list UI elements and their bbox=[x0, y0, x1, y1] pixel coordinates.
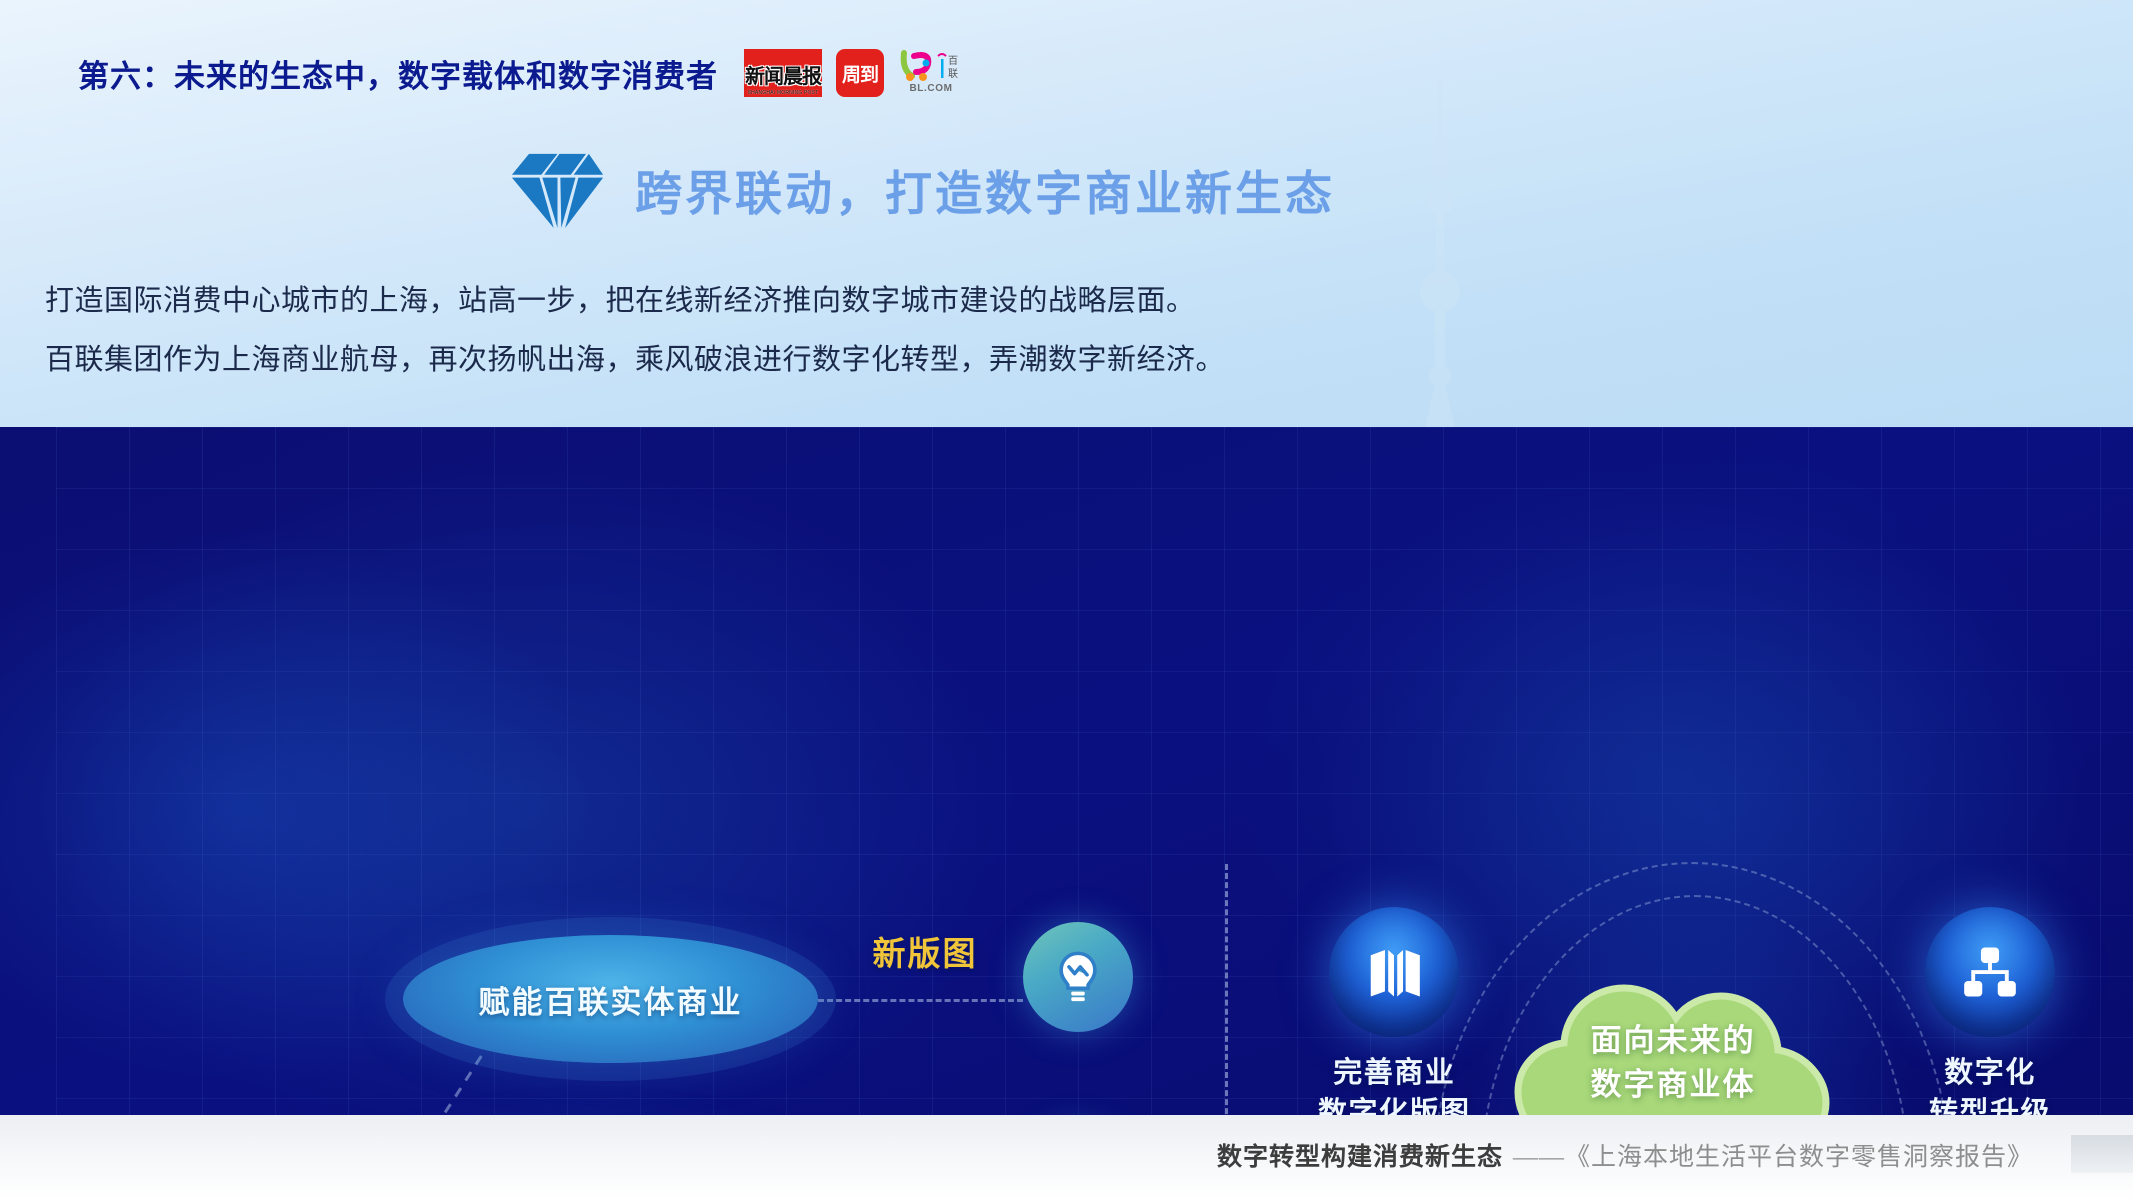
connector-ellipse-1-to-icon bbox=[818, 999, 1023, 1002]
node-digital-transform-bubble bbox=[1925, 907, 2055, 1037]
diagram-section: 百联集团 BAILIAN GROUP 百 联 BL.COM 赋能百联实体商业 布… bbox=[0, 427, 2133, 1115]
node-digital-transform-line-1: 数字化 bbox=[1929, 1053, 2051, 1093]
partner-logos: 新闻晨报 SHANGHAI MORNING POST 周到 百 联 BL.COM bbox=[744, 48, 964, 98]
lightbulb-icon bbox=[1051, 950, 1105, 1004]
ellipse-label-1[interactable]: 赋能百联实体商业 bbox=[403, 935, 818, 1063]
bailian-mark-icon: 百 联 bbox=[898, 48, 964, 82]
cloud-line-2: 数字商业体 bbox=[1591, 1063, 1756, 1107]
footer-source: ——《上海本地生活平台数字零售洞察报告》 bbox=[1513, 1137, 2033, 1173]
center-cloud: 面向未来的 数字商业体 bbox=[1508, 960, 1838, 1115]
zhoudao-logo: 周到 bbox=[836, 49, 884, 97]
cloud-text: 面向未来的 数字商业体 bbox=[1508, 960, 1838, 1115]
panel-divider bbox=[1225, 864, 1228, 1115]
node-map-label: 完善商业 数字化版图 bbox=[1318, 1053, 1471, 1115]
slide-footer: 数字转型构建消费新生态 ——《上海本地生活平台数字零售洞察报告》 bbox=[0, 1115, 2133, 1200]
map-icon bbox=[1363, 941, 1425, 1003]
bailian-domain-label: BL.COM bbox=[909, 83, 952, 94]
svg-text:联: 联 bbox=[948, 68, 958, 80]
footer-chip bbox=[2071, 1135, 2133, 1173]
tag-1: 新版图 bbox=[855, 932, 995, 977]
bailian-blcom-logo: 百 联 BL.COM bbox=[898, 48, 964, 98]
node-map[interactable]: 完善商业 数字化版图 bbox=[1318, 907, 1471, 1115]
cloud-line-1: 面向未来的 bbox=[1591, 1019, 1756, 1063]
node-digital-transform[interactable]: 数字化 转型升级 bbox=[1925, 907, 2055, 1115]
node-map-line-1: 完善商业 bbox=[1318, 1053, 1471, 1093]
node-map-line-2: 数字化版图 bbox=[1318, 1093, 1471, 1115]
morning-post-logo: 新闻晨报 SHANGHAI MORNING POST bbox=[744, 49, 822, 97]
node-map-bubble bbox=[1329, 907, 1459, 1037]
hero-title: 跨界联动，打造数字商业新生态 bbox=[635, 155, 1335, 224]
hero-paragraphs: 打造国际消费中心城市的上海，站高一步，把在线新经济推向数字城市建设的战略层面。 … bbox=[45, 287, 1545, 405]
diamond-icon bbox=[510, 148, 605, 230]
hero-paragraph-2: 百联集团作为上海商业航母，再次扬帆出海，乘风破浪进行数字化转型，弄潮数字新经济。 bbox=[45, 346, 1545, 375]
node-digital-transform-label: 数字化 转型升级 bbox=[1929, 1053, 2051, 1115]
morning-post-logo-sub: SHANGHAI MORNING POST bbox=[744, 90, 822, 96]
morning-post-logo-main: 新闻晨报 bbox=[744, 57, 822, 91]
footer-headline: 数字转型构建消费新生态 bbox=[1217, 1137, 1503, 1173]
footer-text: 数字转型构建消费新生态 ——《上海本地生活平台数字零售洞察报告》 bbox=[1217, 1137, 2033, 1173]
node-digital-transform-line-2: 转型升级 bbox=[1929, 1093, 2051, 1115]
sitemap-icon bbox=[1959, 941, 2021, 1003]
hero-title-row: 跨界联动，打造数字商业新生态 bbox=[510, 148, 1335, 230]
lightbulb-icon-node[interactable] bbox=[1023, 922, 1133, 1032]
slide-header: 第六：未来的生态中，数字载体和数字消费者 新闻晨报 SHANGHAI MORNI… bbox=[78, 48, 964, 98]
page-title: 第六：未来的生态中，数字载体和数字消费者 bbox=[78, 51, 718, 96]
svg-text:百: 百 bbox=[948, 55, 958, 67]
hero-section: 第六：未来的生态中，数字载体和数字消费者 新闻晨报 SHANGHAI MORNI… bbox=[0, 0, 2133, 427]
tag-1-line-1: 新版图 bbox=[873, 932, 978, 977]
hero-paragraph-1: 打造国际消费中心城市的上海，站高一步，把在线新经济推向数字城市建设的战略层面。 bbox=[45, 287, 1545, 316]
